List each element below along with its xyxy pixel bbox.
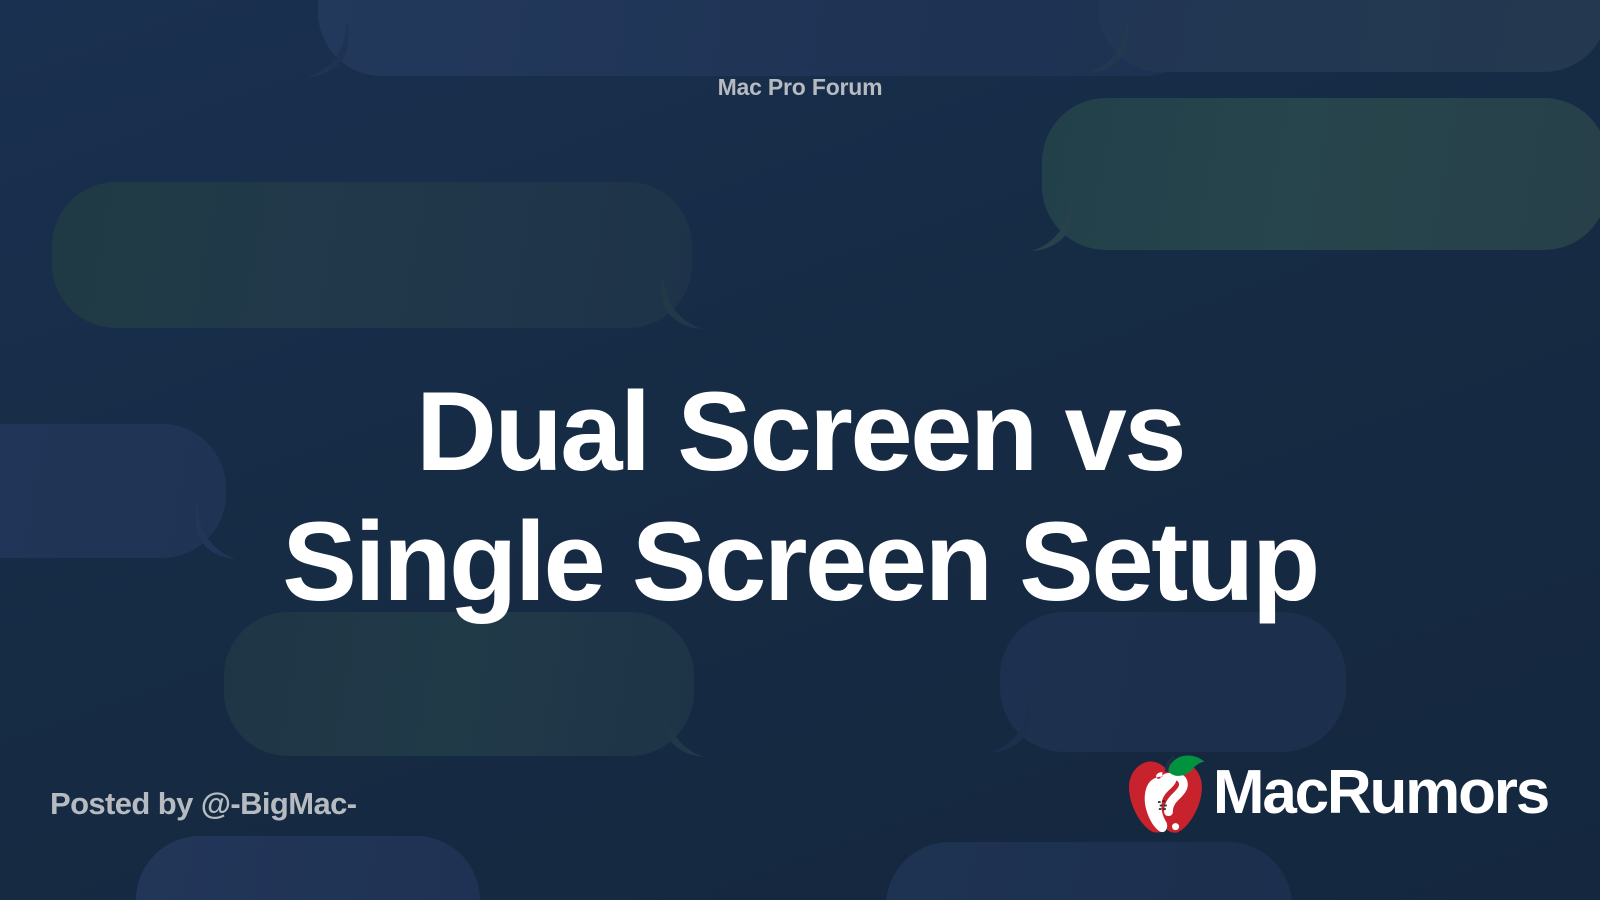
card-content: Mac Pro Forum Dual Screen vs Single Scre… [0,0,1600,900]
macrumors-wordmark: MacRumors [1213,762,1548,824]
macrumors-logo[interactable]: MacRumors [1121,752,1548,838]
page-title: Dual Screen vs Single Screen Setup [60,367,1540,627]
macrumors-apple-icon [1121,752,1209,838]
forum-label: Mac Pro Forum [0,74,1600,101]
social-share-card: Mac Pro Forum Dual Screen vs Single Scre… [0,0,1600,900]
posted-by-label: Posted by @-BigMac- [50,786,356,822]
